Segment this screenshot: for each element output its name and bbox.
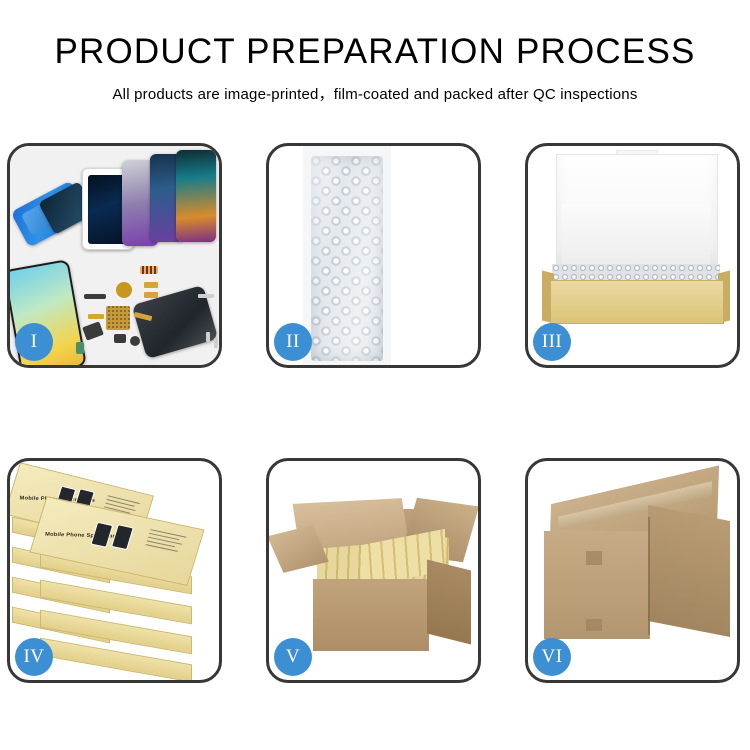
carton-front-face xyxy=(313,579,429,651)
page-header: PRODUCT PREPARATION PROCESS All products… xyxy=(0,0,750,104)
carton-side-face xyxy=(648,505,730,637)
box-print-spec-lines xyxy=(146,529,189,553)
process-steps-grid: I II III xyxy=(7,143,743,683)
step-panel-3: III xyxy=(525,143,740,368)
part-screw-2-icon xyxy=(214,338,218,348)
box-print-phone-icon xyxy=(111,524,134,550)
part-tweezers-icon xyxy=(198,294,214,298)
phone-teal-icon xyxy=(176,150,216,242)
foam-insert xyxy=(562,204,710,266)
step-panel-6: VI xyxy=(525,458,740,683)
carton-handle-tab-upper xyxy=(586,551,602,565)
part-screw-icon xyxy=(206,332,210,342)
box-body-kraft xyxy=(550,280,724,324)
carton-edge-seam xyxy=(648,517,650,635)
step-badge-2: II xyxy=(274,323,312,361)
part-connector-icon xyxy=(88,314,104,319)
page-title: PRODUCT PREPARATION PROCESS xyxy=(0,34,750,69)
step-badge-6: VI xyxy=(533,638,571,676)
step-panel-2: II xyxy=(266,143,481,368)
part-coil-icon xyxy=(116,282,132,298)
step-badge-4: IV xyxy=(15,638,53,676)
carton-handle-tab-lower xyxy=(586,619,602,631)
box-print-phone-icon xyxy=(90,522,113,548)
step-panel-1: I xyxy=(7,143,222,368)
part-battery-icon xyxy=(76,342,84,354)
part-flex-cable-2-icon xyxy=(144,292,158,298)
step-badge-1: I xyxy=(15,323,53,361)
part-camera-icon xyxy=(114,334,126,343)
carton-side-face xyxy=(427,560,471,645)
page-subtitle: All products are image-printed，film-coat… xyxy=(0,83,750,104)
part-flex-cable-icon xyxy=(144,282,158,288)
bubble-wrap-gloss xyxy=(311,156,383,361)
part-connector-strip-icon xyxy=(140,266,158,274)
part-speaker-icon xyxy=(84,294,106,299)
step-badge-5: V xyxy=(274,638,312,676)
step-panel-4: Mobile Phone Spare Parts Mobile Phone Sp… xyxy=(7,458,222,683)
part-button-icon xyxy=(130,336,140,346)
step-badge-3: III xyxy=(533,323,571,361)
part-chip-array-icon xyxy=(106,306,130,330)
step-panel-5: V xyxy=(266,458,481,683)
